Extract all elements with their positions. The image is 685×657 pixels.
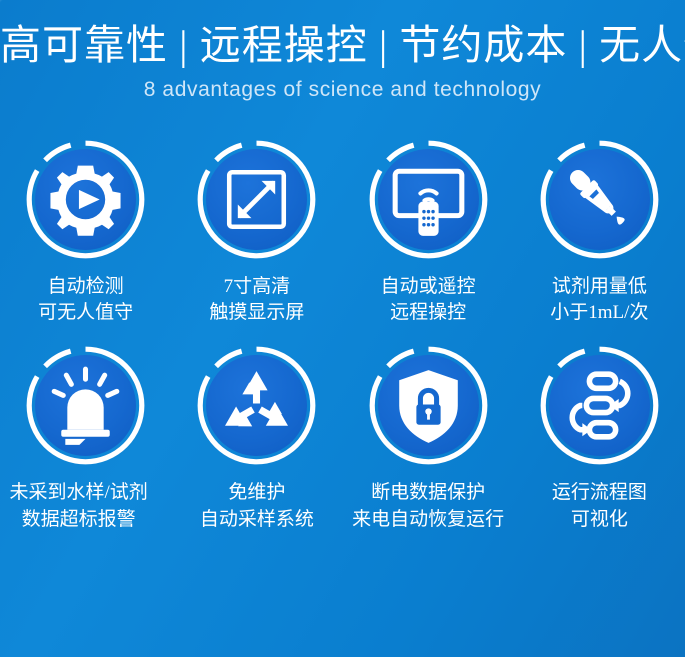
- caption-line-2: 数据超标报警: [9, 507, 147, 533]
- recycle-icon: [206, 355, 307, 456]
- caption-line-1: 运行流程图: [552, 482, 647, 503]
- advantage-badge: [369, 140, 488, 259]
- advantage-badge: [369, 346, 488, 465]
- page-subtitle: 8 advantages of science and technology: [0, 69, 685, 102]
- advantages-grid: 自动检测 可无人值守 7寸高清: [0, 140, 685, 541]
- advantage-item-2[interactable]: 7寸高清 触摸显示屏: [171, 140, 342, 326]
- infographic-page: 高可靠性 | 远程操控 | 节约成本 | 无人值守 8 advantages o…: [0, 0, 685, 657]
- advantage-caption: 自动检测 可无人值守: [38, 274, 133, 326]
- advantage-item-7[interactable]: 断电数据保护 来电自动恢复运行: [343, 346, 514, 532]
- flowchart-loop-icon: [549, 355, 650, 456]
- caption-line-2: 可视化: [552, 507, 647, 533]
- gear-play-icon: [35, 149, 136, 250]
- caption-line-2: 自动采样系统: [200, 507, 314, 533]
- page-header: 高可靠性 | 远程操控 | 节约成本 | 无人值守 8 advantages o…: [0, 0, 685, 102]
- advantage-item-8[interactable]: 运行流程图 可视化: [514, 346, 685, 532]
- advantage-badge: [26, 140, 145, 259]
- monitor-wifi-remote-icon: [378, 149, 479, 250]
- caption-line-1: 7寸高清: [224, 276, 291, 297]
- caption-line-1: 自动或遥控: [381, 276, 476, 297]
- advantage-item-5[interactable]: 未采到水样/试剂 数据超标报警: [0, 346, 171, 532]
- advantage-caption: 未采到水样/试剂 数据超标报警: [9, 480, 147, 532]
- alarm-siren-icon: [35, 355, 136, 456]
- advantage-caption: 试剂用量低 小于1mL/次: [550, 274, 648, 326]
- advantage-badge: [197, 346, 316, 465]
- advantage-caption: 免维护 自动采样系统: [200, 480, 314, 532]
- advantage-badge: [26, 346, 145, 465]
- advantage-badge: [197, 140, 316, 259]
- advantage-caption: 自动或遥控 远程操控: [381, 274, 476, 326]
- caption-line-1: 免维护: [228, 482, 285, 503]
- caption-line-2: 小于1mL/次: [550, 300, 648, 326]
- advantage-badge: [540, 140, 659, 259]
- pipette-dropper-icon: [549, 149, 650, 250]
- expand-arrows-screen-icon: [206, 149, 307, 250]
- advantage-item-3[interactable]: 自动或遥控 远程操控: [343, 140, 514, 326]
- caption-line-2: 触摸显示屏: [209, 300, 304, 326]
- caption-line-2: 来电自动恢复运行: [352, 507, 504, 533]
- page-title: 高可靠性 | 远程操控 | 节约成本 | 无人值守: [0, 0, 685, 69]
- advantage-caption: 断电数据保护 来电自动恢复运行: [352, 480, 504, 532]
- advantage-caption: 运行流程图 可视化: [552, 480, 647, 532]
- caption-line-1: 断电数据保护: [371, 482, 485, 503]
- caption-line-2: 远程操控: [381, 300, 476, 326]
- caption-line-1: 自动检测: [48, 276, 124, 297]
- caption-line-1: 试剂用量低: [552, 276, 647, 297]
- shield-lock-icon: [378, 355, 479, 456]
- caption-line-1: 未采到水样/试剂: [9, 482, 147, 503]
- advantage-badge: [540, 346, 659, 465]
- advantage-item-4[interactable]: 试剂用量低 小于1mL/次: [514, 140, 685, 326]
- advantage-item-1[interactable]: 自动检测 可无人值守: [0, 140, 171, 326]
- caption-line-2: 可无人值守: [38, 300, 133, 326]
- advantage-item-6[interactable]: 免维护 自动采样系统: [171, 346, 342, 532]
- advantage-caption: 7寸高清 触摸显示屏: [209, 274, 304, 326]
